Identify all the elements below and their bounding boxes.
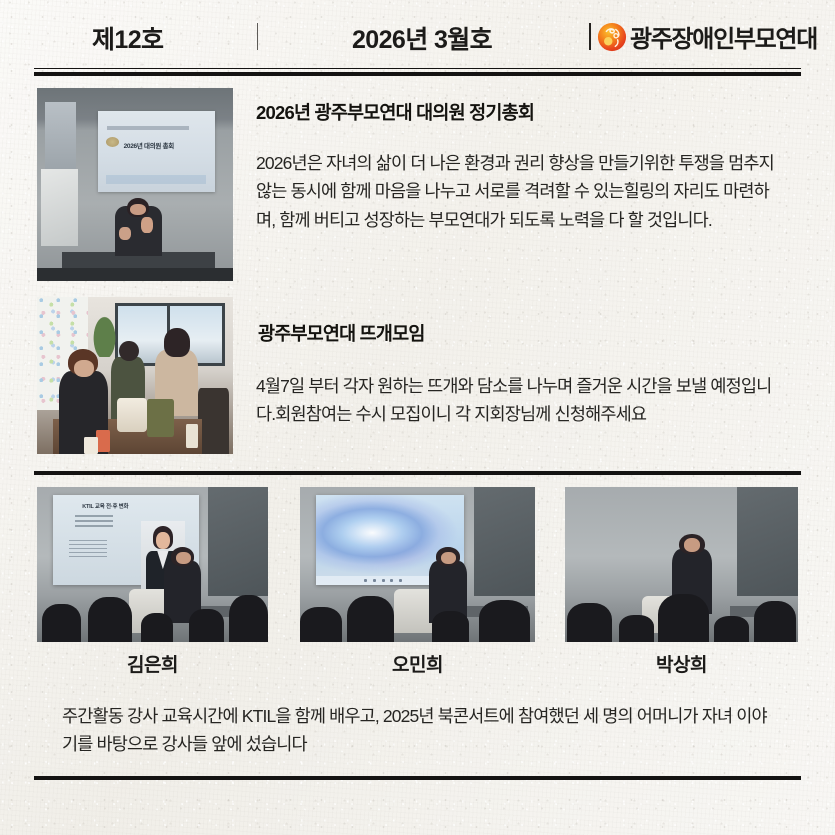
top-rule-thick [34,72,801,76]
flame-circle-logo-icon [597,22,627,52]
speaker-name-park: 박상희 [565,650,798,676]
article-1-title: 2026년 광주부모연대 대의원 정기총회 [256,99,534,125]
speaker-name-oh: 오민희 [300,650,535,676]
newsletter-page: 제12호 2026년 3월호 광주장애 [0,0,835,835]
top-rule-thin [34,68,801,69]
slide-title-text: 2026년 대의원 총회 [124,140,174,150]
article-1-body: 2026년은 자녀의 삶이 더 나은 환경과 권리 향상을 만들기위한 투쟁을 … [256,149,779,234]
lecture-photo-kim: KTIL 교육 전·후 변화 [37,487,268,642]
masthead: 제12호 2026년 3월호 광주장애 [0,0,835,66]
article-2-body: 4월7일 부터 각자 원하는 뜨개와 담소를 나누며 즐거운 시간을 보낼 예정… [256,372,776,429]
speaker-name-kim: 김은희 [37,650,268,676]
lecture-photo-oh [300,487,535,642]
brand-accent-bar [589,23,591,50]
lecture-photo-park [565,487,798,642]
assembly-presentation-photo: 2026년 대의원 총회 [37,88,233,281]
brand-lockup: 광주장애인부모연대 [589,19,817,54]
article-2-title: 광주부모연대 뜨개모임 [258,320,425,346]
knitting-meetup-photo [37,297,233,454]
middle-rule [34,471,801,475]
masthead-divider [257,23,258,50]
issue-date: 2026년 3월호 [352,20,492,56]
bottom-rule [34,776,801,780]
issue-number: 제12호 [92,20,163,56]
speakers-caption: 주간활동 강사 교육시간에 KTIL을 함께 배우고, 2025년 북콘서트에 … [62,702,780,759]
brand-name: 광주장애인부모연대 [630,19,817,54]
slide-heading-text: KTIL 교육 전·후 변화 [82,502,128,510]
